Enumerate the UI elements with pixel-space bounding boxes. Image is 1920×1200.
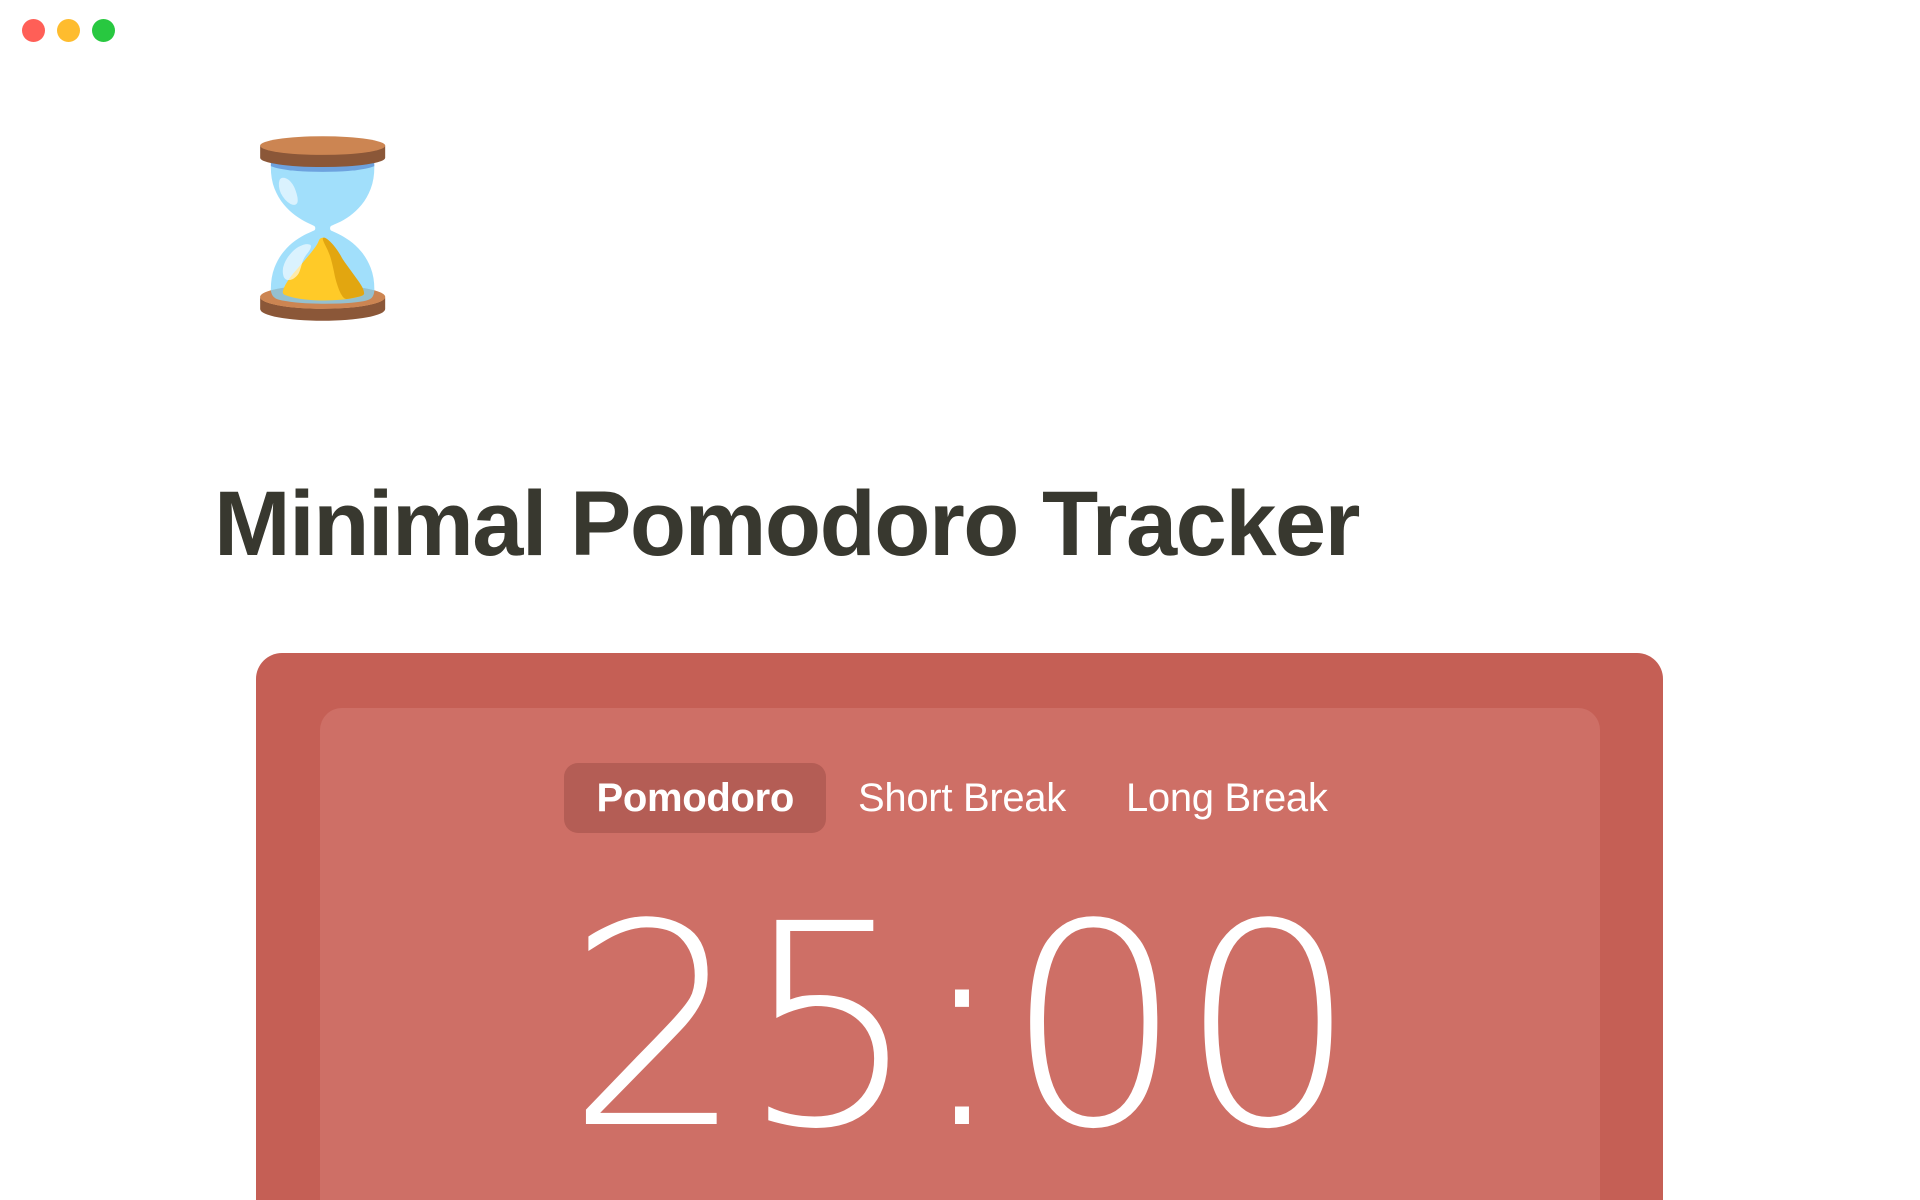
mode-tab-group: Pomodoro Short Break Long Break (320, 763, 1600, 833)
page-title: Minimal Pomodoro Tracker (214, 468, 1714, 580)
countdown-display: 25:00 (320, 878, 1600, 1178)
timer-card: Pomodoro Short Break Long Break 25:00 (256, 653, 1663, 1200)
tab-pomodoro[interactable]: Pomodoro (564, 763, 826, 833)
tab-long-break[interactable]: Long Break (1098, 763, 1356, 833)
tab-short-break[interactable]: Short Break (830, 763, 1094, 833)
page-content: ⌛ Minimal Pomodoro Tracker Pomodoro Shor… (0, 0, 1920, 1200)
hourglass-icon: ⌛ (218, 128, 378, 328)
timer-panel: Pomodoro Short Break Long Break 25:00 (320, 708, 1600, 1200)
app-window: ⌛ Minimal Pomodoro Tracker Pomodoro Shor… (0, 0, 1920, 1200)
